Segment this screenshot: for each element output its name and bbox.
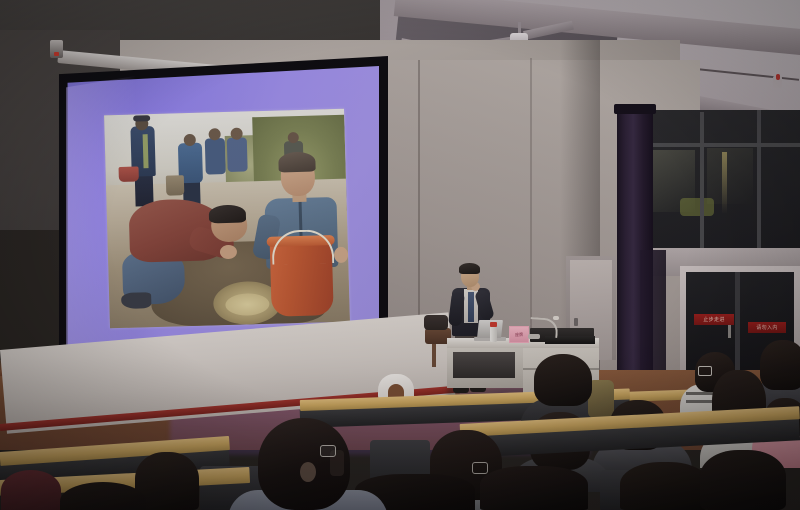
slide-photo: [104, 109, 350, 329]
window-mullion: [757, 110, 761, 248]
photo-bystander-hat: [133, 115, 150, 121]
photo-bystander: [227, 137, 248, 172]
audience-member-head: [534, 354, 592, 406]
presenter-tie: [468, 292, 474, 322]
curtain-rail: [614, 104, 656, 114]
presenter-hair: [459, 263, 480, 274]
chair-leg: [432, 343, 436, 367]
pink-sign-text: 座牌: [515, 332, 523, 338]
photo-red-basin: [119, 166, 139, 182]
curtain-fold: [640, 250, 666, 390]
window-reflection: [707, 148, 753, 204]
window-reflection-foliage: [680, 198, 714, 216]
door-knob[interactable]: [574, 318, 578, 326]
sprinkler-bulb: [776, 74, 780, 80]
eyeglasses: [472, 462, 488, 474]
pink-sign: 座牌: [509, 326, 529, 343]
photo-bystander-stripe: [143, 134, 149, 168]
audience-member-head: [700, 450, 786, 510]
audience-member-head: [620, 462, 710, 510]
door-mullion: [735, 272, 740, 386]
door-sign-left: 止步走进: [694, 314, 734, 325]
photo-kneeling-man-hair: [209, 204, 246, 223]
eyeglasses: [320, 445, 336, 457]
audience-member-head: [1, 470, 61, 510]
photo-bystander: [205, 138, 226, 175]
door-sign-left-text: 止步走进: [703, 316, 725, 323]
podium-recess: [453, 352, 515, 378]
water-bottle[interactable]: [490, 326, 497, 342]
bottle-cap: [490, 322, 497, 327]
wall-seam: [530, 58, 532, 358]
window-mullion: [637, 143, 800, 147]
window-mullion: [700, 112, 704, 250]
eyeglasses: [698, 366, 712, 376]
status-led: [54, 52, 59, 56]
window-light-streak: [722, 152, 727, 214]
lecture-hall-photo: 止步走进 请勿入内: [0, 0, 800, 510]
photo-pail: [166, 175, 185, 195]
microphone-head: [553, 316, 559, 320]
photo-kneeling-man-shoe: [121, 292, 151, 309]
audience-member-head: [760, 340, 800, 390]
audience-member-head: [480, 466, 588, 510]
stage-chair-back: [424, 315, 448, 330]
door-sign-right: 请勿入内: [748, 322, 786, 333]
door-sign-right-text: 请勿入内: [756, 324, 778, 331]
photo-villager-hair: [278, 152, 316, 173]
foreground-person-ear: [300, 462, 316, 482]
